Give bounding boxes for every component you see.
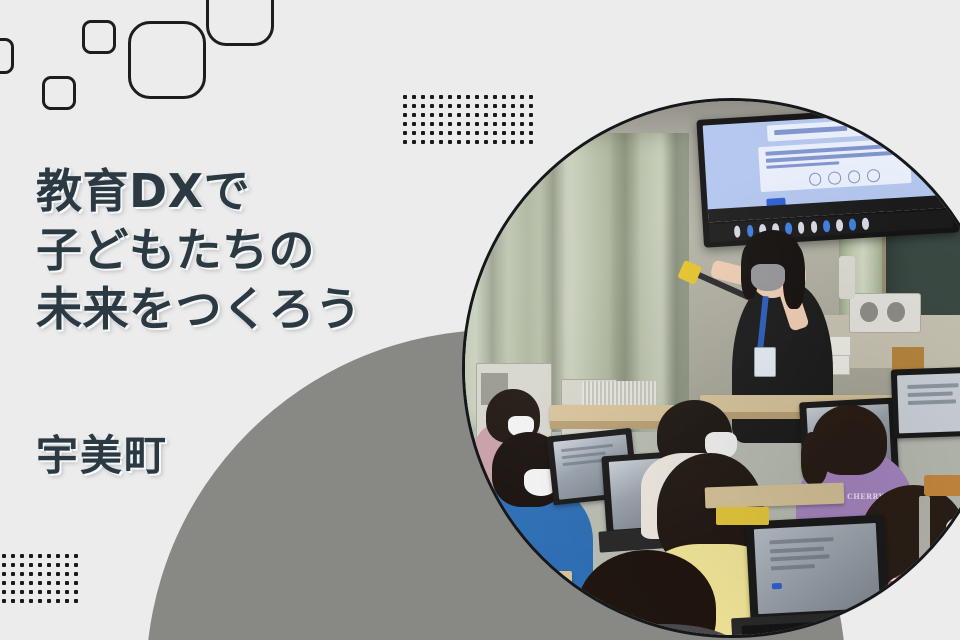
chair-frame xyxy=(919,496,930,581)
dot-grid-top-dot xyxy=(484,95,488,99)
dot-grid-bottom-dot xyxy=(56,590,60,594)
screen-radio xyxy=(867,169,880,182)
dot-grid-top-dot xyxy=(439,113,443,117)
dot-grid-bottom-dot xyxy=(29,599,33,603)
dot-grid-top-dot xyxy=(412,122,416,126)
teacher-hair-side xyxy=(783,245,804,309)
dot-grid-bottom-dot xyxy=(65,572,69,576)
dot-grid-top-dot xyxy=(403,113,407,117)
dot-grid-bottom-dot xyxy=(2,563,6,567)
dot-grid-top-dot xyxy=(439,95,443,99)
dot-grid-top-dot xyxy=(457,95,461,99)
dot-grid-top-dot xyxy=(430,95,434,99)
wall-monitor xyxy=(696,104,960,248)
dot-grid-bottom-dot xyxy=(2,554,6,558)
poster-canvas: 10:03 xyxy=(0,0,960,640)
pole xyxy=(839,256,855,299)
screen-radio xyxy=(828,171,841,184)
monitor-screen xyxy=(703,111,952,222)
dot-grid-top-dot xyxy=(457,104,461,108)
dot-grid-top-dot xyxy=(448,131,452,135)
dot-grid-top-dot xyxy=(466,95,470,99)
taskbar-icon xyxy=(823,220,830,232)
foreground-laptop xyxy=(745,514,889,623)
dot-grid-bottom-dot xyxy=(47,563,51,567)
dot-grid-bottom-dot xyxy=(74,590,78,594)
dot-grid-top-dot xyxy=(412,131,416,135)
dot-grid-bottom-dot xyxy=(20,563,24,567)
dot-grid-bottom-dot xyxy=(20,590,24,594)
dot-grid-top-dot xyxy=(412,113,416,117)
dot-grid-bottom-dot xyxy=(29,554,33,558)
dot-grid-top-dot xyxy=(430,122,434,126)
dot-grid-bottom-dot xyxy=(74,599,78,603)
dot-grid-bottom-dot xyxy=(56,554,60,558)
dot-grid-bottom-dot xyxy=(65,599,69,603)
taskbar-icon xyxy=(836,219,843,231)
dot-grid-bottom-dot xyxy=(65,581,69,585)
dot-grid-bottom-dot xyxy=(11,554,15,558)
dot-grid-bottom-dot xyxy=(47,581,51,585)
dot-grid-bottom-dot xyxy=(47,590,51,594)
dot-grid-top-dot xyxy=(403,95,407,99)
dot-grid-top-dot xyxy=(412,104,416,108)
dot-grid-top-dot xyxy=(448,113,452,117)
dot-grid-top-dot xyxy=(493,95,497,99)
dot-grid-bottom-dot xyxy=(74,563,78,567)
dot-grid-top-dot xyxy=(412,95,416,99)
rounded-square-3 xyxy=(82,20,116,54)
dot-grid-bottom-dot xyxy=(29,581,33,585)
teacher-id-badge xyxy=(754,347,775,378)
dot-grid-bottom-dot xyxy=(11,581,15,585)
rounded-square-4 xyxy=(128,21,206,99)
headline-line-3: 未来をつくろう xyxy=(36,280,466,339)
classroom-photo-circle: 10:03 xyxy=(462,98,960,638)
dot-grid-top-dot xyxy=(529,95,533,99)
taskbar-icon xyxy=(746,225,753,237)
dot-grid-top-dot xyxy=(457,140,461,144)
dot-grid-bottom-dot xyxy=(11,590,15,594)
dot-grid-top-dot xyxy=(421,113,425,117)
dot-grid-top-dot xyxy=(457,131,461,135)
dot-grid-top-dot xyxy=(448,140,452,144)
dot-grid-bottom-dot xyxy=(38,590,42,594)
laptop-screen xyxy=(754,522,880,613)
teacher-face-mask xyxy=(751,264,785,291)
dot-grid-bottom-dot xyxy=(65,563,69,567)
dot-grid-bottom-dot xyxy=(2,581,6,585)
dot-grid-top-dot xyxy=(412,140,416,144)
dot-grid-top-dot xyxy=(421,122,425,126)
student-laptop xyxy=(891,366,960,439)
dot-grid-top-dot xyxy=(457,113,461,117)
screen-radio xyxy=(847,170,860,183)
dot-grid-top-dot xyxy=(430,113,434,117)
dot-grid-bottom-dot xyxy=(20,581,24,585)
dot-grid-top-dot xyxy=(439,131,443,135)
dot-grid-bottom-dot xyxy=(38,563,42,567)
dot-grid-top-dot xyxy=(403,140,407,144)
dot-grid-bottom-dot xyxy=(47,599,51,603)
dot-grid-bottom-dot xyxy=(74,581,78,585)
dot-grid-bottom-dot xyxy=(56,581,60,585)
dot-grid-bottom-dot xyxy=(2,599,6,603)
dot-grid-top-dot xyxy=(475,95,479,99)
dot-grid-bottom-dot xyxy=(2,590,6,594)
dot-grid-top-dot xyxy=(457,122,461,126)
dot-grid-top-dot xyxy=(511,95,515,99)
dot-grid-bottom-dot xyxy=(38,572,42,576)
dot-grid-bottom-dot xyxy=(38,554,42,558)
dot-grid-bottom-dot xyxy=(20,599,24,603)
curtain-fold xyxy=(663,133,690,432)
taskbar-icon xyxy=(862,218,869,230)
dot-grid-top-dot xyxy=(403,131,407,135)
dot-grid-top-dot xyxy=(502,95,506,99)
dot-grid-top-dot xyxy=(448,104,452,108)
dot-grid-bottom-dot xyxy=(11,572,15,576)
dot-grid-top-dot xyxy=(430,140,434,144)
dot-grid-bottom-dot xyxy=(74,554,78,558)
headline-line-2: 子どもたちの xyxy=(36,221,466,280)
rounded-square-2 xyxy=(42,76,76,110)
dot-grid-bottom-dot xyxy=(56,572,60,576)
desk-tray xyxy=(476,592,524,610)
dot-grid-bottom xyxy=(2,554,83,608)
dot-grid-bottom-dot xyxy=(65,554,69,558)
rounded-square-5 xyxy=(206,0,274,46)
dot-grid-top-dot xyxy=(430,104,434,108)
dot-grid-bottom-dot xyxy=(20,554,24,558)
dot-grid-top-dot xyxy=(430,131,434,135)
dot-grid-top-dot xyxy=(421,131,425,135)
classroom-photo: 10:03 xyxy=(465,101,960,635)
dot-grid-top-dot xyxy=(448,95,452,99)
dot-grid-bottom-dot xyxy=(56,563,60,567)
dot-grid-top-dot xyxy=(520,95,524,99)
subtitle-municipality: 宇美町 xyxy=(36,422,168,483)
speaker-cone xyxy=(887,302,905,322)
desk xyxy=(465,571,572,592)
dot-grid-top-dot xyxy=(421,104,425,108)
dot-grid-bottom-dot xyxy=(56,599,60,603)
dot-grid-bottom-dot xyxy=(20,572,24,576)
rounded-square-1 xyxy=(0,38,14,74)
dot-grid-bottom-dot xyxy=(2,572,6,576)
laptop-screen xyxy=(898,372,960,433)
taskbar-icon xyxy=(849,218,856,230)
dot-grid-bottom-dot xyxy=(29,590,33,594)
dot-grid-top-dot xyxy=(439,140,443,144)
dot-grid-top-dot xyxy=(448,122,452,126)
dot-grid-top-dot xyxy=(439,122,443,126)
dot-grid-bottom-dot xyxy=(29,563,33,567)
page-title: 教育DXで 子どもたちの 未来をつくろう xyxy=(36,162,466,339)
dot-grid-top-dot xyxy=(403,122,407,126)
basket xyxy=(582,381,657,405)
dot-grid-top-dot xyxy=(439,104,443,108)
dot-grid-bottom-dot xyxy=(74,572,78,576)
dot-grid-top-dot xyxy=(403,104,407,108)
dot-grid-top-dot xyxy=(421,140,425,144)
dot-grid-bottom-dot xyxy=(65,590,69,594)
dot-grid-top-dot xyxy=(421,95,425,99)
dot-grid-bottom-dot xyxy=(47,572,51,576)
chair-back xyxy=(924,475,960,496)
headline-line-1: 教育DXで xyxy=(36,162,466,221)
dot-grid-bottom-dot xyxy=(11,563,15,567)
dot-grid-bottom-dot xyxy=(29,572,33,576)
dot-grid-bottom-dot xyxy=(11,599,15,603)
student-ponytail xyxy=(801,432,828,485)
dot-grid-bottom-dot xyxy=(38,581,42,585)
screen-radio xyxy=(808,172,821,185)
dot-grid-bottom-dot xyxy=(47,554,51,558)
dot-grid-bottom-dot xyxy=(38,599,42,603)
desk-tray xyxy=(716,507,769,525)
